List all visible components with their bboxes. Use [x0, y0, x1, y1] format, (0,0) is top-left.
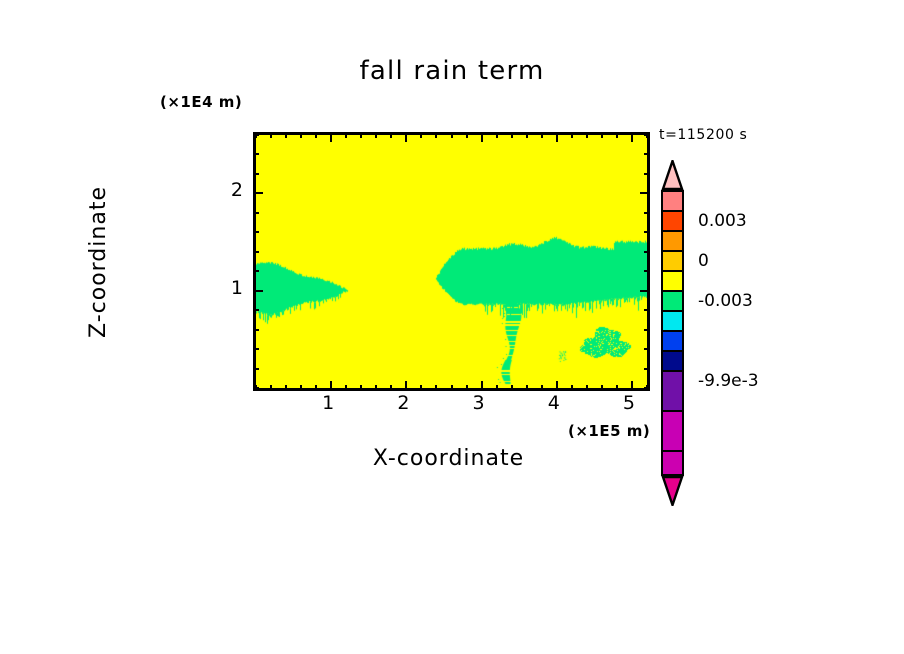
x-tick-minor: [300, 385, 302, 391]
x-tick-top-major: [481, 132, 483, 142]
colorbar-band: [663, 412, 682, 452]
x-tick-top-minor: [586, 132, 588, 138]
x-axis-units-label: (×1E5 m): [568, 424, 650, 439]
x-tick-minor: [451, 385, 453, 391]
x-tick-top-minor: [270, 132, 272, 138]
plot-frame: [253, 132, 650, 391]
y-tick-minor: [253, 387, 259, 389]
heatmap-field: [256, 135, 647, 388]
x-tick-minor: [285, 385, 287, 391]
y-tick-right-minor: [644, 212, 650, 214]
y-tick-minor: [253, 251, 259, 253]
x-tick-minor: [646, 385, 648, 391]
x-tick-minor: [390, 385, 392, 391]
x-tick-top-minor: [315, 132, 317, 138]
x-tick-major: [556, 381, 558, 391]
x-tick-minor: [420, 385, 422, 391]
x-tick-label: 3: [473, 392, 485, 414]
y-tick-minor: [253, 231, 259, 233]
colorbar-tick-label: -0.003: [698, 291, 753, 311]
time-annotation: t=115200 s: [659, 128, 747, 142]
x-tick-minor: [601, 385, 603, 391]
y-tick-minor: [253, 368, 259, 370]
x-tick-top-minor: [285, 132, 287, 138]
x-tick-minor: [270, 385, 272, 391]
y-tick-right-minor: [644, 231, 650, 233]
x-tick-minor: [496, 385, 498, 391]
y-tick-label: 1: [219, 277, 243, 299]
x-tick-top-minor: [390, 132, 392, 138]
x-tick-major: [631, 381, 633, 391]
colorbar-tick-label: 0.003: [698, 211, 747, 231]
y-tick-minor: [253, 153, 259, 155]
x-tick-major: [330, 381, 332, 391]
colorbar-band: [663, 272, 682, 292]
x-tick-top-minor: [300, 132, 302, 138]
x-tick-top-minor: [616, 132, 618, 138]
colorbar-band: [663, 312, 682, 332]
x-tick-minor: [616, 385, 618, 391]
y-tick-right-minor: [644, 173, 650, 175]
y-tick-right-minor: [644, 134, 650, 136]
y-tick-minor: [253, 348, 259, 350]
x-tick-top-minor: [571, 132, 573, 138]
x-tick-top-minor: [541, 132, 543, 138]
y-axis-title: Z-coordinate: [88, 132, 110, 392]
y-tick-right-minor: [644, 309, 650, 311]
x-tick-top-minor: [375, 132, 377, 138]
y-tick-right-minor: [644, 368, 650, 370]
x-tick-top-major: [405, 132, 407, 142]
x-tick-top-major: [631, 132, 633, 142]
y-tick-major: [253, 290, 263, 292]
x-tick-label: 2: [397, 392, 409, 414]
page-title: fall rain term: [0, 58, 904, 84]
y-tick-right-minor: [644, 387, 650, 389]
x-tick-major: [481, 381, 483, 391]
colorbar-band: [663, 192, 682, 212]
x-tick-minor: [375, 385, 377, 391]
x-axis-title: X-coordinate: [253, 448, 644, 470]
x-tick-minor: [466, 385, 468, 391]
colorbar-band: [663, 332, 682, 352]
y-tick-right-minor: [644, 251, 650, 253]
colorbar-band: [663, 292, 682, 312]
x-tick-top-minor: [435, 132, 437, 138]
x-tick-top-minor: [526, 132, 528, 138]
y-tick-minor: [253, 134, 259, 136]
colorbar-tick-label: -9.9e-3: [698, 371, 759, 391]
x-tick-minor: [315, 385, 317, 391]
colorbar-band: [663, 452, 682, 474]
y-tick-minor: [253, 270, 259, 272]
x-tick-top-minor: [345, 132, 347, 138]
x-tick-minor: [511, 385, 513, 391]
x-tick-top-minor: [466, 132, 468, 138]
x-tick-top-minor: [601, 132, 603, 138]
colorbar-band: [663, 232, 682, 252]
colorbar-arrow-top-icon: [661, 160, 684, 190]
x-tick-major: [405, 381, 407, 391]
y-tick-right-minor: [644, 153, 650, 155]
y-tick-major: [253, 192, 263, 194]
x-tick-top-minor: [360, 132, 362, 138]
y-tick-label: 2: [219, 179, 243, 201]
figure-canvas: fall rain term (×1E4 m) t=115200 s 12345…: [0, 0, 904, 654]
x-tick-label: 1: [322, 392, 334, 414]
y-tick-minor: [253, 212, 259, 214]
y-tick-minor: [253, 309, 259, 311]
x-tick-minor: [435, 385, 437, 391]
x-tick-minor: [255, 385, 257, 391]
colorbar-band: [663, 372, 682, 412]
x-tick-label: 4: [548, 392, 560, 414]
y-tick-right-minor: [644, 270, 650, 272]
x-tick-label: 5: [623, 392, 635, 414]
x-tick-minor: [586, 385, 588, 391]
y-tick-minor: [253, 329, 259, 331]
colorbar-bands: [661, 190, 684, 476]
y-tick-right-minor: [644, 329, 650, 331]
colorbar-band: [663, 252, 682, 272]
colorbar-tick-label: 0: [698, 251, 709, 271]
colorbar-arrow-bottom-icon: [661, 476, 684, 506]
x-tick-top-minor: [511, 132, 513, 138]
x-tick-minor: [526, 385, 528, 391]
colorbar-band: [663, 212, 682, 232]
y-tick-right-major: [640, 290, 650, 292]
y-axis-units-label: (×1E4 m): [160, 95, 242, 110]
y-tick-right-minor: [644, 348, 650, 350]
x-tick-minor: [345, 385, 347, 391]
x-tick-minor: [571, 385, 573, 391]
x-tick-top-minor: [496, 132, 498, 138]
x-tick-minor: [541, 385, 543, 391]
x-tick-top-major: [556, 132, 558, 142]
x-tick-minor: [360, 385, 362, 391]
y-tick-right-major: [640, 192, 650, 194]
y-tick-minor: [253, 173, 259, 175]
x-tick-top-major: [330, 132, 332, 142]
x-tick-top-minor: [451, 132, 453, 138]
x-tick-top-minor: [420, 132, 422, 138]
colorbar-band: [663, 352, 682, 372]
